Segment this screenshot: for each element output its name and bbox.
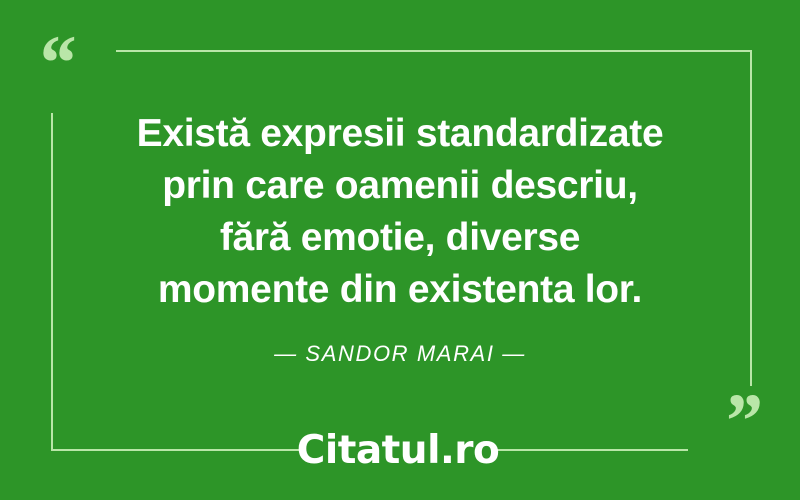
frame-right-line bbox=[750, 50, 752, 386]
site-logo[interactable]: Citatul.ro bbox=[300, 418, 496, 482]
quote-card: “ ” Există expresii standardizate prin c… bbox=[0, 0, 800, 500]
frame-top-line bbox=[116, 50, 752, 52]
open-quote-icon: “ bbox=[36, 24, 73, 102]
quote-text: Există expresii standardizate prin care … bbox=[60, 108, 740, 316]
frame-bottom-line-right bbox=[495, 449, 688, 451]
close-quote-icon: ” bbox=[722, 382, 759, 460]
frame-left-line bbox=[51, 113, 53, 451]
frame-bottom-line-left bbox=[51, 449, 300, 451]
quote-author: — SANDOR MARAI — bbox=[60, 341, 740, 367]
site-logo-text: Citatul.ro bbox=[297, 431, 500, 470]
